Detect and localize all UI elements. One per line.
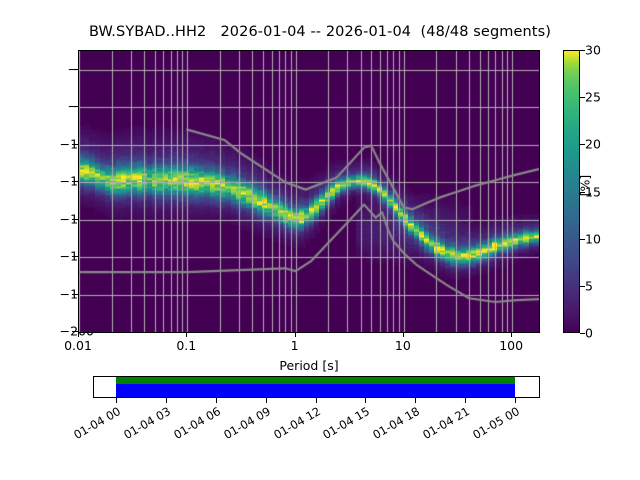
timeline-tick-label: 01-04 09 — [217, 404, 272, 444]
timeline-tick-mark — [166, 398, 167, 403]
x-tick-mark — [403, 333, 404, 337]
x-tick-label: 100 — [499, 338, 523, 353]
noise-model-curves — [79, 51, 539, 332]
timeline-tick-mark — [415, 398, 416, 403]
colorbar-tick-mark — [580, 286, 585, 287]
x-tick-mark — [295, 333, 296, 337]
timeline-tick-label: 01-04 03 — [118, 404, 173, 444]
colorbar-tick-mark — [580, 50, 585, 51]
x-axis-label: Period [s] — [78, 358, 540, 373]
x-tick-mark — [186, 333, 187, 337]
x-tick-mark — [511, 333, 512, 337]
timeline-tick-label: 01-04 21 — [417, 404, 472, 444]
timeline-tick-label: 01-04 18 — [367, 404, 422, 444]
timeline-tick-mark — [515, 398, 516, 403]
colorbar-tick-label: 5 — [585, 278, 593, 293]
colorbar-tick-mark — [580, 333, 585, 334]
colorbar-tick-mark — [580, 97, 585, 98]
available-data-band — [116, 377, 514, 384]
segment-coverage-band — [116, 384, 514, 397]
timeline-tick-label: 01-04 06 — [168, 404, 223, 444]
timeline-tick-label: 01-04 15 — [317, 404, 372, 444]
x-tick-mark — [78, 333, 79, 337]
timeline-tick-mark — [316, 398, 317, 403]
page-title: BW.SYBAD..HH2 2026-01-04 -- 2026-01-04 (… — [0, 24, 640, 40]
timeline-tick-mark — [216, 398, 217, 403]
colorbar-tick-label: 30 — [585, 43, 601, 58]
x-tick-label: 1 — [291, 338, 299, 353]
timeline-tick-mark — [266, 398, 267, 403]
timeline-coverage-box[interactable] — [93, 376, 540, 398]
ppsd-figure: BW.SYBAD..HH2 2026-01-04 -- 2026-01-04 (… — [0, 0, 640, 480]
timeline-tick-mark — [116, 398, 117, 403]
colorbar-label: [%] — [578, 126, 593, 246]
timeline-tick-mark — [465, 398, 466, 403]
x-tick-label: 0.1 — [176, 338, 196, 353]
ppsd-plot-area[interactable] — [78, 50, 540, 333]
timeline-tick-mark — [365, 398, 366, 403]
timeline-tick-label: 01-05 00 — [466, 404, 521, 444]
colorbar-tick-label: 25 — [585, 90, 601, 105]
x-tick-label: 0.01 — [64, 338, 92, 353]
x-tick-label: 10 — [395, 338, 411, 353]
timeline-tick-label: 01-04 12 — [267, 404, 322, 444]
timeline-tick-label: 01-04 00 — [68, 404, 123, 444]
colorbar-tick-label: 0 — [585, 326, 593, 341]
